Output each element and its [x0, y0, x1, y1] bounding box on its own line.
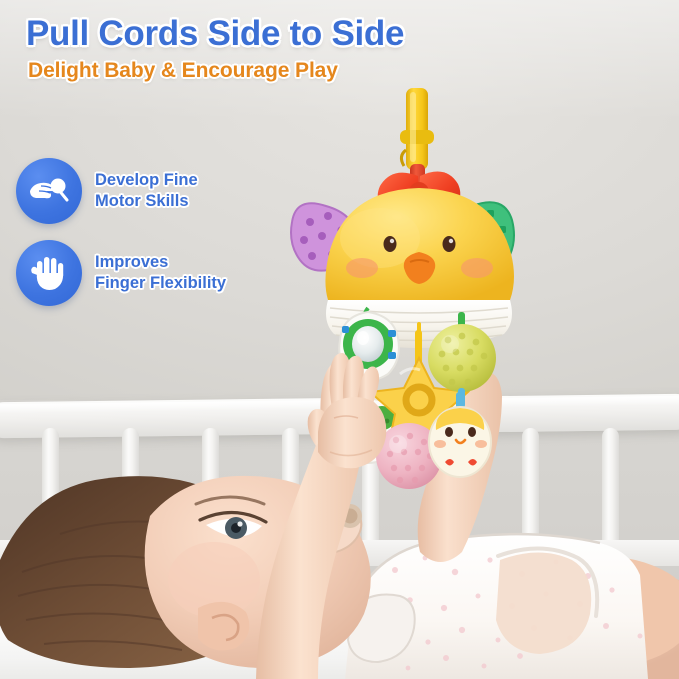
crib-slat: [362, 428, 379, 548]
feature-develop-fine-motor-skills: Develop Fine Motor Skills: [16, 158, 198, 224]
feature-badge-circle: [16, 158, 82, 224]
crib-slat: [442, 428, 459, 548]
feature-label: Improves Finger Flexibility: [95, 252, 226, 294]
crib-slat: [522, 428, 539, 548]
feature-label-line1: Develop Fine: [95, 170, 198, 191]
crib-slat: [602, 428, 619, 548]
feature-badge-circle: [16, 240, 82, 306]
feature-improves-finger-flexibility: Improves Finger Flexibility: [16, 240, 226, 306]
crib-mattress: [0, 610, 679, 679]
crib-slat: [122, 428, 139, 548]
crib-base-rail: [0, 540, 679, 566]
page-subtitle: Delight Baby & Encourage Play: [28, 59, 404, 83]
open-palm-hand-icon: [28, 252, 70, 294]
page-title: Pull Cords Side to Side: [26, 14, 404, 54]
crib-slat: [42, 428, 59, 548]
feature-label-line2: Finger Flexibility: [95, 273, 226, 294]
crib-slat: [202, 428, 219, 548]
product-marketing-image: Pull Cords Side to Side Delight Baby & E…: [0, 0, 679, 679]
pinching-hand-icon: [27, 169, 71, 213]
feature-label-line2: Motor Skills: [95, 191, 198, 212]
crib-slat: [282, 428, 299, 548]
feature-label-line1: Improves: [95, 252, 226, 273]
feature-label: Develop Fine Motor Skills: [95, 170, 198, 212]
headline-block: Pull Cords Side to Side Delight Baby & E…: [26, 14, 404, 83]
